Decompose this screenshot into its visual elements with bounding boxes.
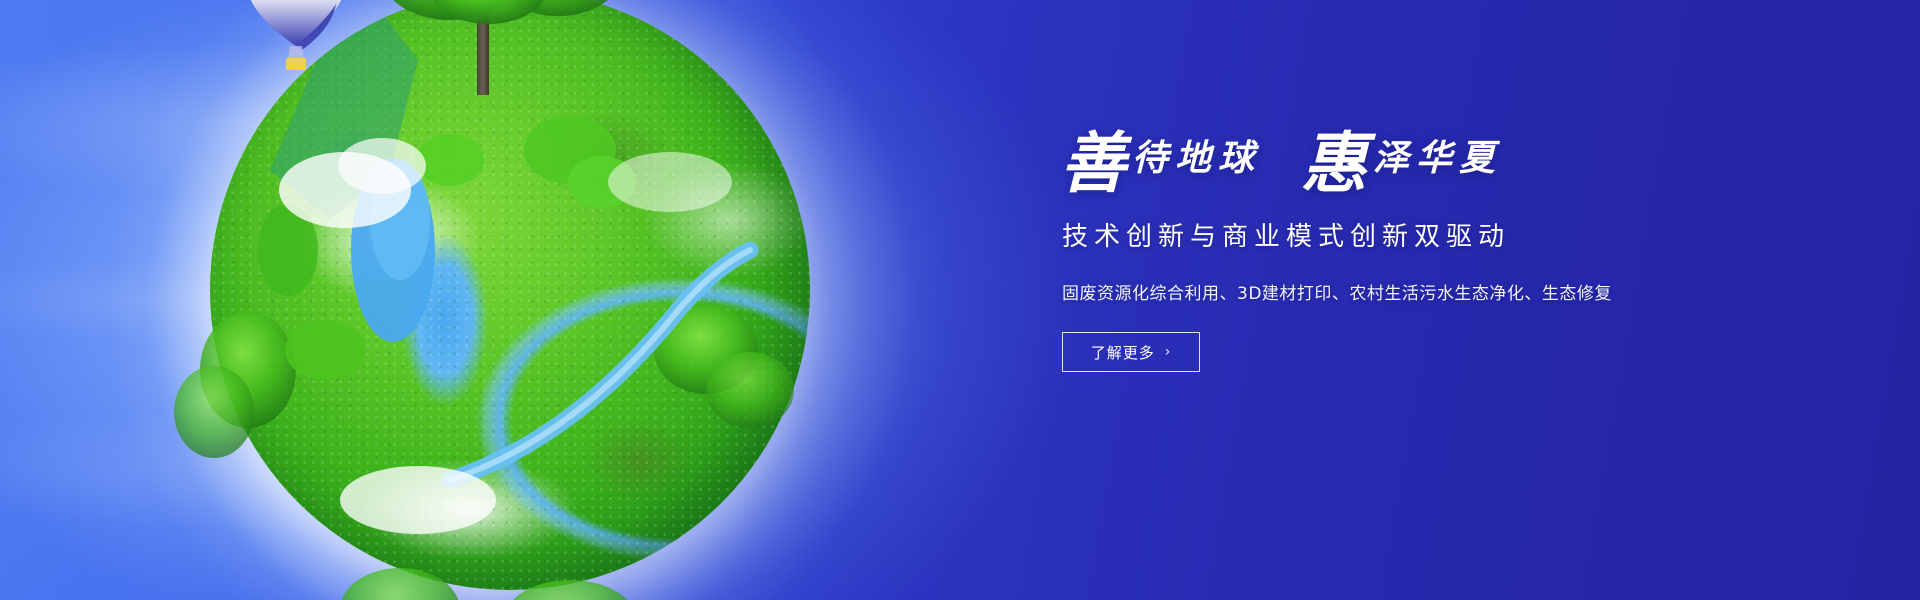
tall-tree-icon xyxy=(380,0,620,95)
planet-details-svg xyxy=(150,0,870,600)
hero-text-block: 善待地球惠泽华夏 技术创新与商业模式创新双驱动 固废资源化综合利用、3D建材打印… xyxy=(1060,132,1680,372)
hero-banner: 善待地球惠泽华夏 技术创新与商业模式创新双驱动 固废资源化综合利用、3D建材打印… xyxy=(0,0,1920,600)
learn-more-label: 了解更多 xyxy=(1091,342,1155,363)
hero-subtitle: 技术创新与商业模式创新双驱动 xyxy=(1062,216,1680,253)
hero-description: 固废资源化综合利用、3D建材打印、农村生活污水生态净化、生态修复 xyxy=(1062,279,1680,304)
headline-part2-small: 泽华夏 xyxy=(1373,138,1502,178)
planet-canopy-blobs xyxy=(258,10,750,534)
headline-part2-big: 惠 xyxy=(1301,128,1367,201)
learn-more-button[interactable]: 了解更多 › xyxy=(1062,332,1200,372)
tiny-planet-illustration xyxy=(150,0,870,600)
headline-part1-big: 善 xyxy=(1060,128,1126,201)
headline-part1-small: 待地球 xyxy=(1132,138,1261,178)
chevron-right-icon: › xyxy=(1165,344,1172,360)
rim-trees xyxy=(174,306,794,600)
page-title: 善待地球惠泽华夏 xyxy=(1060,132,1680,198)
